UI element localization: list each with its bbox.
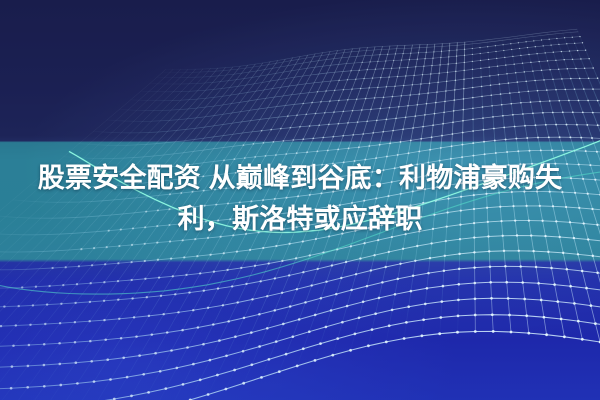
article-hero-banner: 股票安全配资 从巅峰到谷底：利物浦豪购失利，斯洛特或应辞职	[0, 0, 600, 400]
page-title: 股票安全配资 从巅峰到谷底：利物浦豪购失利，斯洛特或应辞职	[0, 158, 600, 240]
